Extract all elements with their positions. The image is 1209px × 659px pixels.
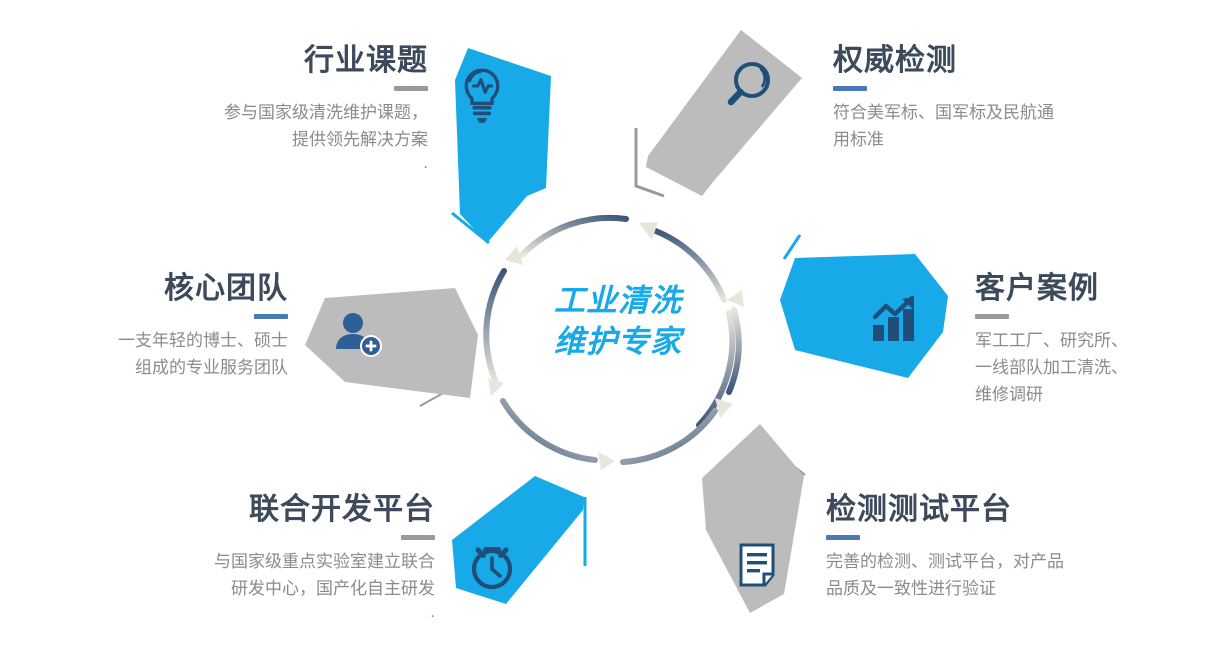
- connector-team: [420, 377, 472, 406]
- item-description: 符合美军标、国军标及民航通 用标准: [833, 99, 1153, 153]
- trailing-dot: .: [118, 153, 428, 173]
- connector-customer: [784, 235, 800, 259]
- desc-line: 用标准: [833, 126, 1153, 153]
- ring-arc-3: [486, 271, 504, 382]
- ring-arc-6: [729, 310, 739, 392]
- title-divider: [394, 86, 428, 91]
- center-label-line2: 维护专家: [538, 322, 698, 363]
- title-divider: [833, 86, 867, 91]
- item-title: 联合开发平台: [110, 493, 435, 526]
- item-description: 参与国家级清洗维护课题， 提供领先解决方案: [118, 99, 428, 153]
- item-description: 一支年轻的博士、硕士 组成的专业服务团队: [35, 327, 288, 381]
- item-title: 检测测试平台: [826, 493, 1136, 526]
- arrow-shape-inspection-test-platform[interactable]: [702, 424, 804, 613]
- arrow-shape-customer-cases[interactable]: [780, 254, 948, 378]
- desc-line: 与国家级重点实验室建立联合: [110, 548, 435, 575]
- connector-industry: [452, 213, 489, 243]
- item-core-team[interactable]: 核心团队 一支年轻的博士、硕士 组成的专业服务团队: [35, 272, 288, 381]
- desc-line: 参与国家级清洗维护课题，: [118, 99, 428, 126]
- arrow-shape-industry-topic[interactable]: [455, 48, 551, 243]
- item-description: 与国家级重点实验室建立联合 研发中心，国产化自主研发: [110, 548, 435, 602]
- ring-arc-2: [522, 218, 626, 255]
- item-title: 核心团队: [35, 272, 288, 305]
- item-title: 客户案例: [975, 272, 1205, 305]
- infographic-canvas: 工业清洗 维护专家 行业课题 参与国家级清洗维护课题， 提供领先解决方案 . 权…: [0, 0, 1209, 659]
- ring-arrowhead-2: [505, 246, 523, 265]
- ring-arc-5: [623, 411, 715, 462]
- arrow-shape-joint-development-platform[interactable]: [452, 476, 584, 604]
- title-divider: [254, 314, 288, 319]
- item-customer-cases[interactable]: 客户案例 军工工厂、研究所、 一线部队加工清洗、 维修调研: [975, 272, 1205, 409]
- desc-line: 完善的检测、测试平台，对产品: [826, 548, 1136, 575]
- connector-testing: [758, 437, 805, 475]
- desc-line: 研发中心，国产化自主研发: [110, 575, 435, 602]
- ring-arrowhead-6: [727, 290, 744, 307]
- item-title: 权威检测: [833, 44, 1153, 77]
- item-inspection-test-platform[interactable]: 检测测试平台 完善的检测、测试平台，对产品 品质及一致性进行验证: [826, 493, 1136, 602]
- magnifier-icon: [731, 64, 768, 102]
- title-divider: [401, 535, 435, 540]
- trailing-dot: .: [110, 602, 435, 622]
- user-add-icon: [336, 313, 382, 357]
- desc-line: 一线部队加工清洗、: [975, 354, 1205, 381]
- growth-chart-icon: [873, 297, 914, 341]
- clock-icon: [474, 547, 510, 587]
- item-description: 军工工厂、研究所、 一线部队加工清洗、 维修调研: [975, 327, 1205, 409]
- desc-line: 组成的专业服务团队: [35, 354, 288, 381]
- title-divider: [975, 314, 1009, 319]
- arrow-shape-core-team[interactable]: [305, 288, 478, 398]
- item-authority-testing[interactable]: 权威检测 符合美军标、国军标及民航通 用标准: [833, 44, 1153, 153]
- lightbulb-icon: [466, 70, 498, 123]
- ring-arc-4: [503, 401, 595, 460]
- desc-line: 维修调研: [975, 381, 1205, 408]
- desc-line: 符合美军标、国军标及民航通: [833, 99, 1153, 126]
- ring-arc-1: [699, 313, 732, 425]
- desc-line: 提供领先解决方案: [118, 126, 428, 153]
- ring-arrowhead-1: [639, 222, 658, 240]
- center-label-line1: 工业清洗: [538, 281, 698, 322]
- desc-line: 军工工厂、研究所、: [975, 327, 1205, 354]
- desc-line: 品质及一致性进行验证: [826, 575, 1136, 602]
- connector-authority: [636, 128, 664, 196]
- title-divider: [826, 535, 860, 540]
- ring-arrowhead-4: [598, 452, 615, 470]
- ring-arrowhead-3: [488, 378, 504, 396]
- item-industry-topic[interactable]: 行业课题 参与国家级清洗维护课题， 提供领先解决方案 .: [118, 44, 428, 174]
- arrow-shape-authority-testing[interactable]: [646, 30, 802, 196]
- center-label: 工业清洗 维护专家: [538, 281, 698, 363]
- item-description: 完善的检测、测试平台，对产品 品质及一致性进行验证: [826, 548, 1136, 602]
- document-icon: [741, 545, 773, 585]
- desc-line: 一支年轻的博士、硕士: [35, 327, 288, 354]
- ring-arrowhead-5: [715, 398, 733, 418]
- item-title: 行业课题: [118, 44, 428, 77]
- item-joint-development-platform[interactable]: 联合开发平台 与国家级重点实验室建立联合 研发中心，国产化自主研发 .: [110, 493, 435, 623]
